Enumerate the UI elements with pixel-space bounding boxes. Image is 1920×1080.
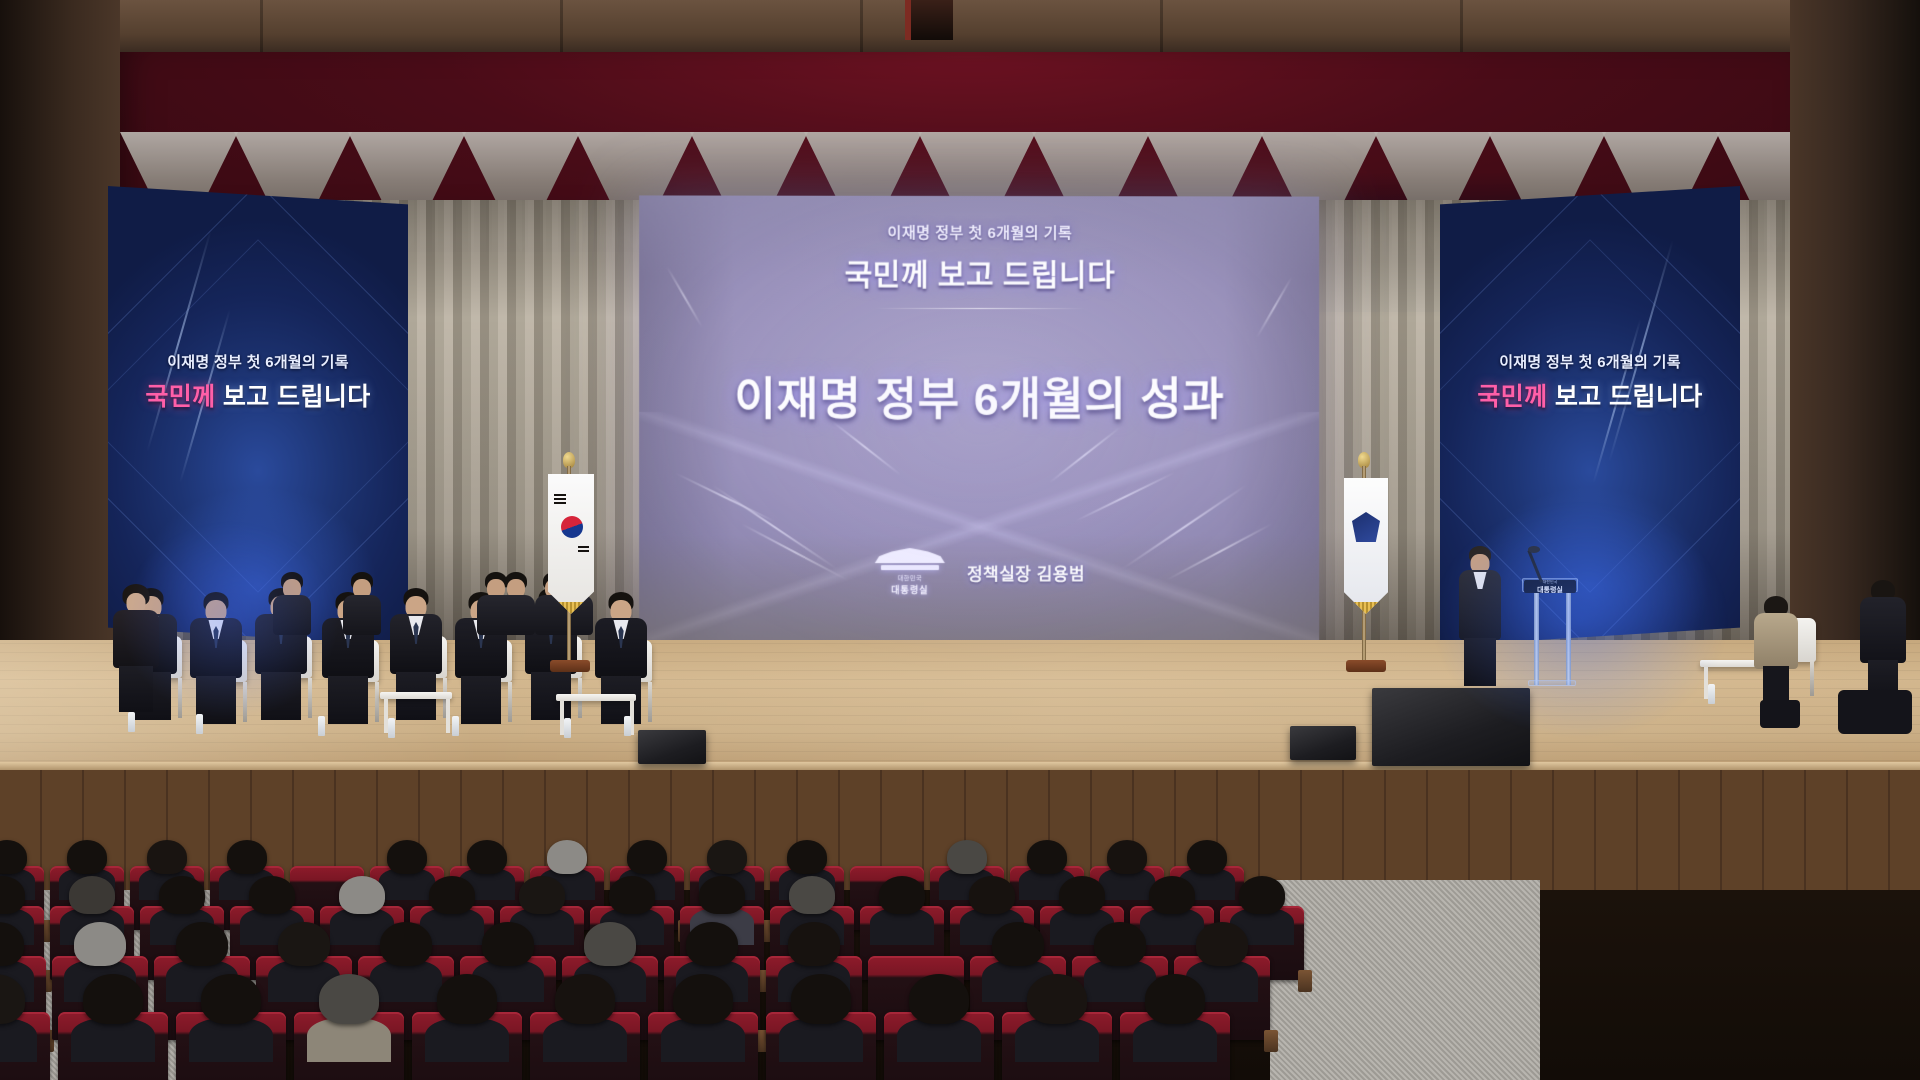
audience-member-head: [201, 974, 261, 1024]
seated-person-right: [1750, 596, 1802, 706]
stage-official: [183, 592, 249, 724]
audience-member-shoulders: [307, 1018, 391, 1062]
stage-official-back-row: [270, 572, 314, 632]
stage-official: [588, 592, 654, 724]
audience-member-head: [227, 840, 267, 874]
audience-member-head: [147, 840, 187, 874]
banner-right-text: 이재명 정부 첫 6개월의 기록 국민께 보고 드립니다: [1440, 351, 1740, 413]
banner-right-headline: 국민께 보고 드립니다: [1477, 377, 1702, 413]
audience-member-head: [74, 922, 126, 966]
audience-member-head: [1059, 876, 1105, 914]
stage-monitor-speaker: [1290, 726, 1356, 760]
person-torso: [273, 595, 311, 635]
water-bottle: [196, 714, 203, 734]
audience-member-head: [969, 876, 1015, 914]
person-legs: [261, 672, 301, 720]
audience-member-head: [1094, 922, 1146, 966]
banner-left-eyebrow: 이재명 정부 첫 6개월의 기록: [167, 351, 349, 372]
audience-member-shoulders: [189, 1018, 273, 1062]
audience-member-head: [83, 974, 143, 1024]
stage-official-back-row: [340, 572, 384, 632]
person-legs: [328, 676, 368, 724]
person-legs: [461, 676, 501, 724]
audience-member-head: [519, 876, 565, 914]
audience-member-head: [467, 840, 507, 874]
audience-member-head: [787, 840, 827, 874]
audience-member-head: [159, 876, 205, 914]
seat-armrest: [1264, 1030, 1278, 1052]
screen-main-title: 이재명 정부 6개월의 성과: [734, 363, 1225, 428]
stage-side-table: [556, 694, 636, 701]
audience-member-head: [429, 876, 475, 914]
banner-right-eyebrow: 이재명 정부 첫 6개월의 기록: [1499, 351, 1681, 372]
audience-member-head: [707, 840, 747, 874]
audience-member-head: [482, 922, 534, 966]
audience-member-head: [176, 922, 228, 966]
standing-speaker: [1452, 546, 1508, 688]
audience-member-head: [909, 974, 969, 1024]
audience-member-shoulders: [1133, 1018, 1217, 1062]
audience-member-head: [584, 922, 636, 966]
audience-member-head: [789, 876, 835, 914]
audience-member-shoulders: [370, 960, 443, 1002]
audience-member-shoulders: [897, 1018, 981, 1062]
water-bottle: [318, 716, 325, 736]
audience-member-shoulders: [543, 1018, 627, 1062]
water-bottle: [1708, 684, 1715, 704]
person-torso: [113, 610, 159, 668]
flag-base-left: [550, 660, 590, 672]
audience-member-head: [1145, 974, 1205, 1024]
taeguk-symbol: [561, 516, 583, 538]
audience-member-head: [609, 876, 655, 914]
audience-member-head: [1187, 840, 1227, 874]
seat-armrest: [1298, 970, 1312, 992]
screen-headline: 국민께 보고 드립니다: [845, 250, 1116, 294]
podium-sign: 대한민국 대통령실: [1524, 580, 1576, 593]
audience-member-head: [249, 876, 295, 914]
audience-member-head: [1027, 974, 1087, 1024]
projection-screen: 이재명 정부 첫 6개월의 기록 국민께 보고 드립니다 이재명 정부 6개월의…: [639, 195, 1319, 642]
audience-member-shoulders: [1015, 1018, 1099, 1062]
audience-member-head: [278, 922, 330, 966]
stage-side-table: [380, 692, 452, 699]
camera-equipment: [1838, 690, 1912, 734]
podium-base: [1528, 680, 1576, 686]
banner-left-headline: 국민께 보고 드립니다: [145, 377, 370, 413]
audience-member-head: [879, 876, 925, 914]
flag-base-right: [1346, 660, 1386, 672]
screen-eyebrow: 이재명 정부 첫 6개월의 기록: [888, 222, 1073, 243]
projection-screen-surface: 이재명 정부 첫 6개월의 기록 국민께 보고 드립니다 이재명 정부 6개월의…: [639, 195, 1319, 642]
banner-left-headline-pink: 국민께: [145, 383, 215, 411]
audience-member-head: [555, 974, 615, 1024]
screen-divider-rule: [875, 308, 1085, 309]
audience-member-head: [69, 876, 115, 914]
taegukgi-flag: [548, 474, 594, 614]
audience-member-head: [992, 922, 1044, 966]
audience-member-head: [627, 840, 667, 874]
audience-member-head: [791, 974, 851, 1024]
water-bottle: [388, 718, 395, 738]
audience-member-head: [380, 922, 432, 966]
banner-left-text: 이재명 정부 첫 6개월의 기록 국민께 보고 드립니다: [108, 351, 408, 413]
audience-member-shoulders: [661, 1018, 745, 1062]
stage-monitor-speaker: [638, 730, 706, 764]
microphone-head: [1528, 546, 1540, 553]
audience-member-head: [686, 922, 738, 966]
stage-official-leftmost: [108, 584, 164, 714]
left-wall-panel: [0, 0, 120, 700]
audience-member-head: [1239, 876, 1285, 914]
person-legs: [119, 666, 153, 712]
presidential-standard-flag: [1344, 478, 1388, 614]
audience-member-head: [699, 876, 745, 914]
audience-member-head: [1149, 876, 1195, 914]
audience-member-head: [437, 974, 497, 1024]
audience-member-shoulders: [779, 1018, 863, 1062]
stage-official: [383, 588, 449, 720]
audience-member-head: [673, 974, 733, 1024]
audience-member-head: [319, 974, 379, 1024]
audience-member-head: [1027, 840, 1067, 874]
person-torso: [343, 595, 381, 635]
audience-member-head: [1107, 840, 1147, 874]
audience-member-head: [387, 840, 427, 874]
person-torso: [497, 595, 535, 635]
audience-member-head: [339, 876, 385, 914]
ceiling-marker: [905, 0, 953, 40]
banner-left-headline-white: 보고 드립니다: [223, 383, 371, 411]
camera-equipment: [1760, 700, 1800, 728]
audience-member-head: [67, 840, 107, 874]
audience-member-head: [947, 840, 987, 874]
podium-sign-line2: 대통령실: [1537, 585, 1563, 594]
banner-right-headline-white: 보고 드립니다: [1555, 383, 1703, 411]
audience-member-head: [788, 922, 840, 966]
presidential-emblem: [1352, 512, 1380, 542]
audience-member-shoulders: [425, 1018, 509, 1062]
water-bottle: [564, 718, 571, 738]
stage-large-speaker: [1372, 688, 1530, 766]
audience-member-head: [547, 840, 587, 874]
water-bottle: [452, 716, 459, 736]
audience-member-head: [1196, 922, 1248, 966]
banner-right-headline-pink: 국민께: [1477, 383, 1547, 411]
water-bottle: [624, 716, 631, 736]
audience-member-shoulders: [71, 1018, 155, 1062]
auditorium-scene: 이재명 정부 첫 6개월의 기록 국민께 보고 드립니다 이재명 정부 첫 6개…: [0, 0, 1920, 1080]
water-bottle: [128, 712, 135, 732]
